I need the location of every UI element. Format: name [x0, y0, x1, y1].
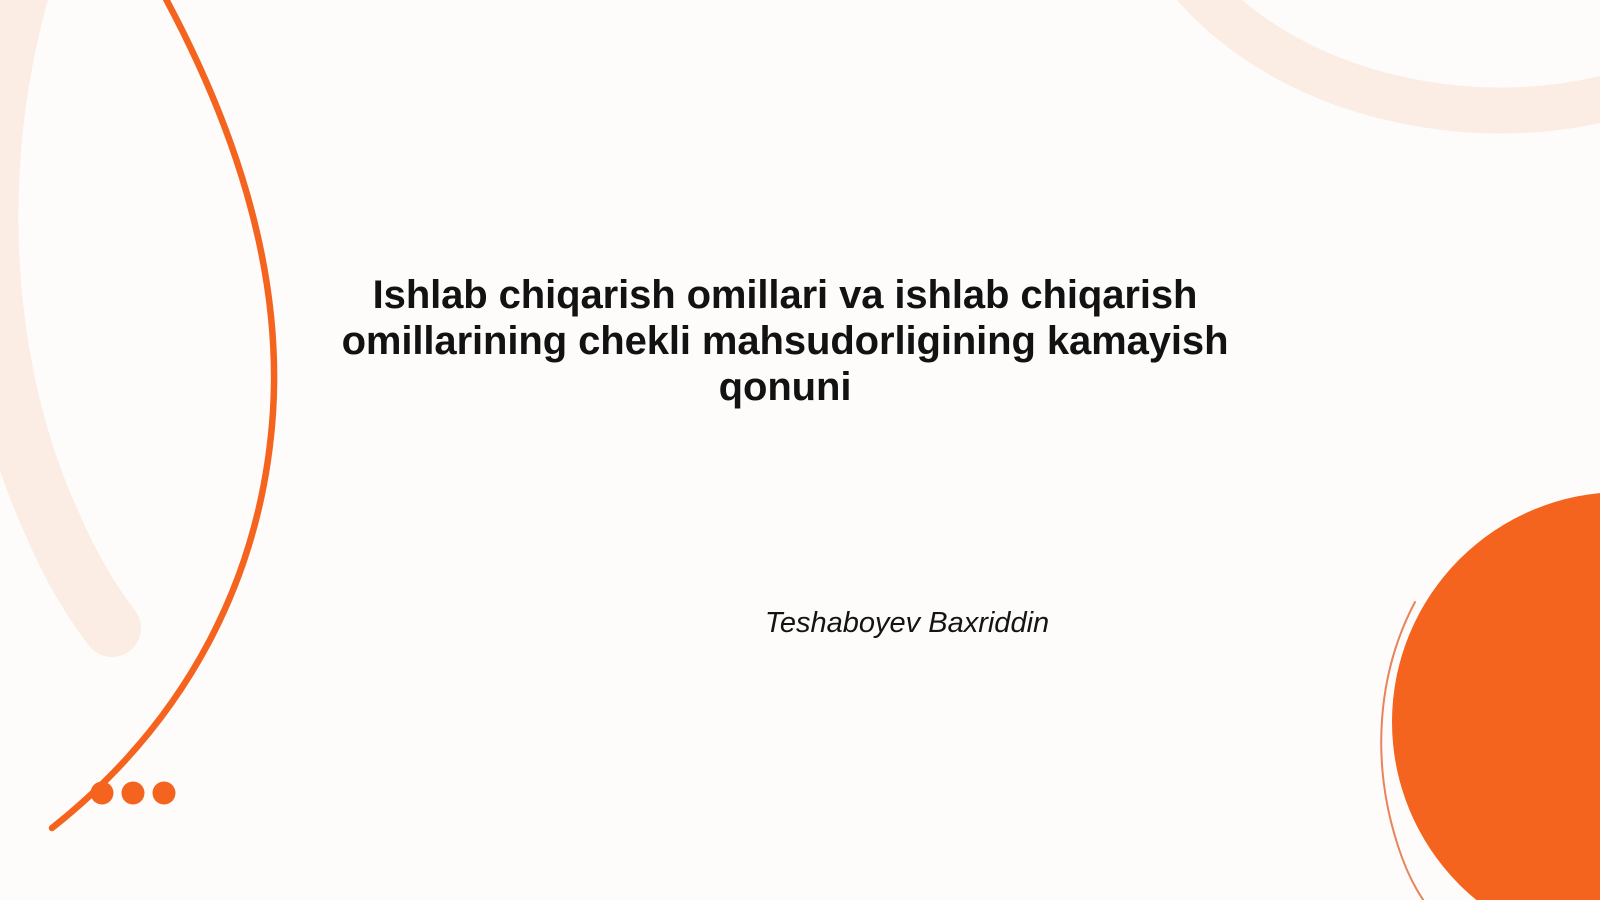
title-line-2: omillarining chekli mahsudorligining kam…	[285, 318, 1285, 364]
slide-title: Ishlab chiqarish omillari va ishlab chiq…	[285, 272, 1285, 410]
slide-subtitle: Teshaboyev Baxriddin	[407, 603, 1407, 643]
title-line-3: qonuni	[285, 364, 1285, 410]
slide-content-layer: Ishlab chiqarish omillari va ishlab chiq…	[0, 0, 1600, 900]
title-line-1: Ishlab chiqarish omillari va ishlab chiq…	[285, 272, 1285, 318]
author-name: Teshaboyev Baxriddin	[407, 603, 1407, 643]
presentation-slide: Ishlab chiqarish omillari va ishlab chiq…	[0, 0, 1600, 900]
